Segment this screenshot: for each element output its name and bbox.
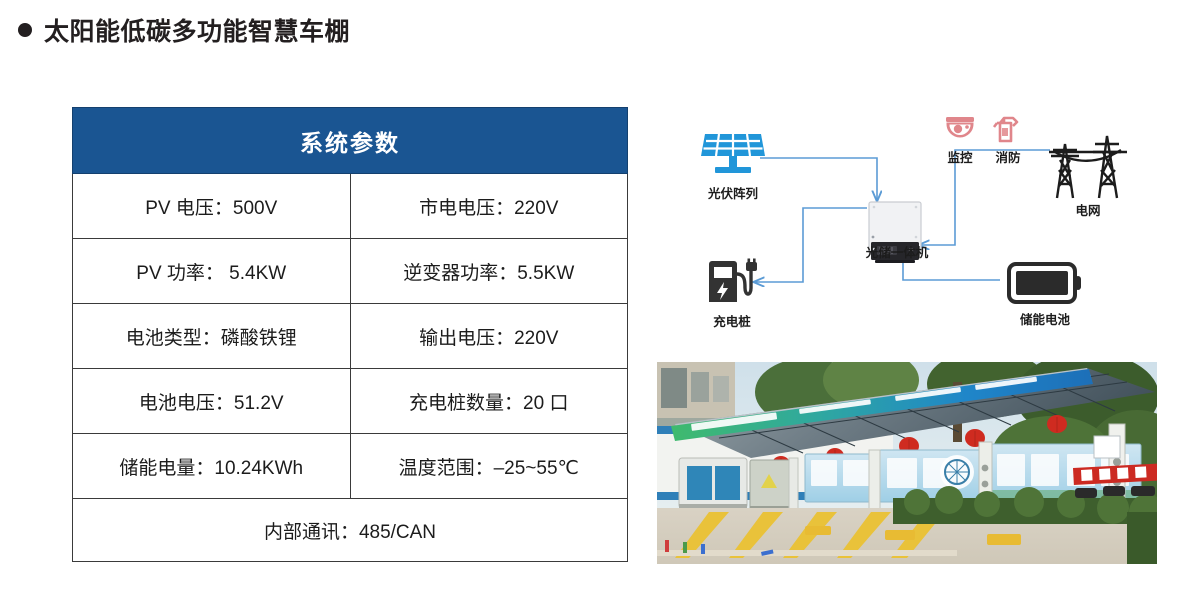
page-title-row: 太阳能低碳多功能智慧车棚 <box>18 12 350 48</box>
spec-cell-output-voltage: 输出电压：220V <box>350 304 628 369</box>
battery-icon <box>1007 260 1083 306</box>
table-header-title: 系统参数 <box>73 108 628 174</box>
node-label-grid: 电网 <box>1053 200 1123 219</box>
page-title: 太阳能低碳多功能智慧车棚 <box>44 12 350 48</box>
table-row: PV 功率： 5.4KW 逆变器功率：5.5KW <box>73 239 628 304</box>
solar-panel-icon <box>699 130 767 180</box>
node-label-monitoring: 监控 <box>937 147 983 166</box>
table-header-row: 系统参数 <box>73 108 628 174</box>
table-row: 电池电压：51.2V 充电桩数量：20 口 <box>73 369 628 434</box>
spec-cell-storage-capacity: 储能电量：10.24KWh <box>73 434 351 499</box>
power-tower-icon <box>1047 130 1129 202</box>
spec-cell-charger-count: 充电桩数量：20 口 <box>350 369 628 434</box>
solar-carport-photo <box>657 362 1157 564</box>
spec-cell-pv-voltage: PV 电压：500V <box>73 174 351 239</box>
ev-charger-icon <box>703 258 761 308</box>
system-flow-diagram: 光伏阵列 监控 <box>655 100 1165 350</box>
node-label-pv-array: 光伏阵列 <box>685 183 781 202</box>
table-row: 内部通讯：485/CAN <box>73 499 628 562</box>
node-label-battery: 储能电池 <box>997 309 1093 328</box>
system-parameters-table: 系统参数 PV 电压：500V 市电电压：220V PV 功率： 5.4KW 逆… <box>72 107 628 562</box>
spec-cell-internal-comms: 内部通讯：485/CAN <box>73 499 628 562</box>
spec-cell-pv-power: PV 功率： 5.4KW <box>73 239 351 304</box>
bullet-dot-icon <box>18 23 32 37</box>
fire-extinguisher-icon <box>991 114 1019 144</box>
node-label-charger: 充电桩 <box>687 311 777 330</box>
spec-cell-inverter-power: 逆变器功率：5.5KW <box>350 239 628 304</box>
spec-cell-battery-type: 电池类型：磷酸铁锂 <box>73 304 351 369</box>
table-row: 储能电量：10.24KWh 温度范围：–25~55℃ <box>73 434 628 499</box>
node-label-fire: 消防 <box>985 147 1031 166</box>
table-row: PV 电压：500V 市电电压：220V <box>73 174 628 239</box>
spec-cell-temperature-range: 温度范围：–25~55℃ <box>350 434 628 499</box>
slide-page: 太阳能低碳多功能智慧车棚 系统参数 PV 电压：500V 市电电压：220V P… <box>0 0 1200 605</box>
cctv-camera-icon <box>945 116 975 144</box>
spec-cell-mains-voltage: 市电电压：220V <box>350 174 628 239</box>
spec-cell-battery-voltage: 电池电压：51.2V <box>73 369 351 434</box>
carport-photo-render <box>657 362 1157 564</box>
table-row: 电池类型：磷酸铁锂 输出电压：220V <box>73 304 628 369</box>
node-label-inverter: 光储一体机 <box>851 242 943 261</box>
